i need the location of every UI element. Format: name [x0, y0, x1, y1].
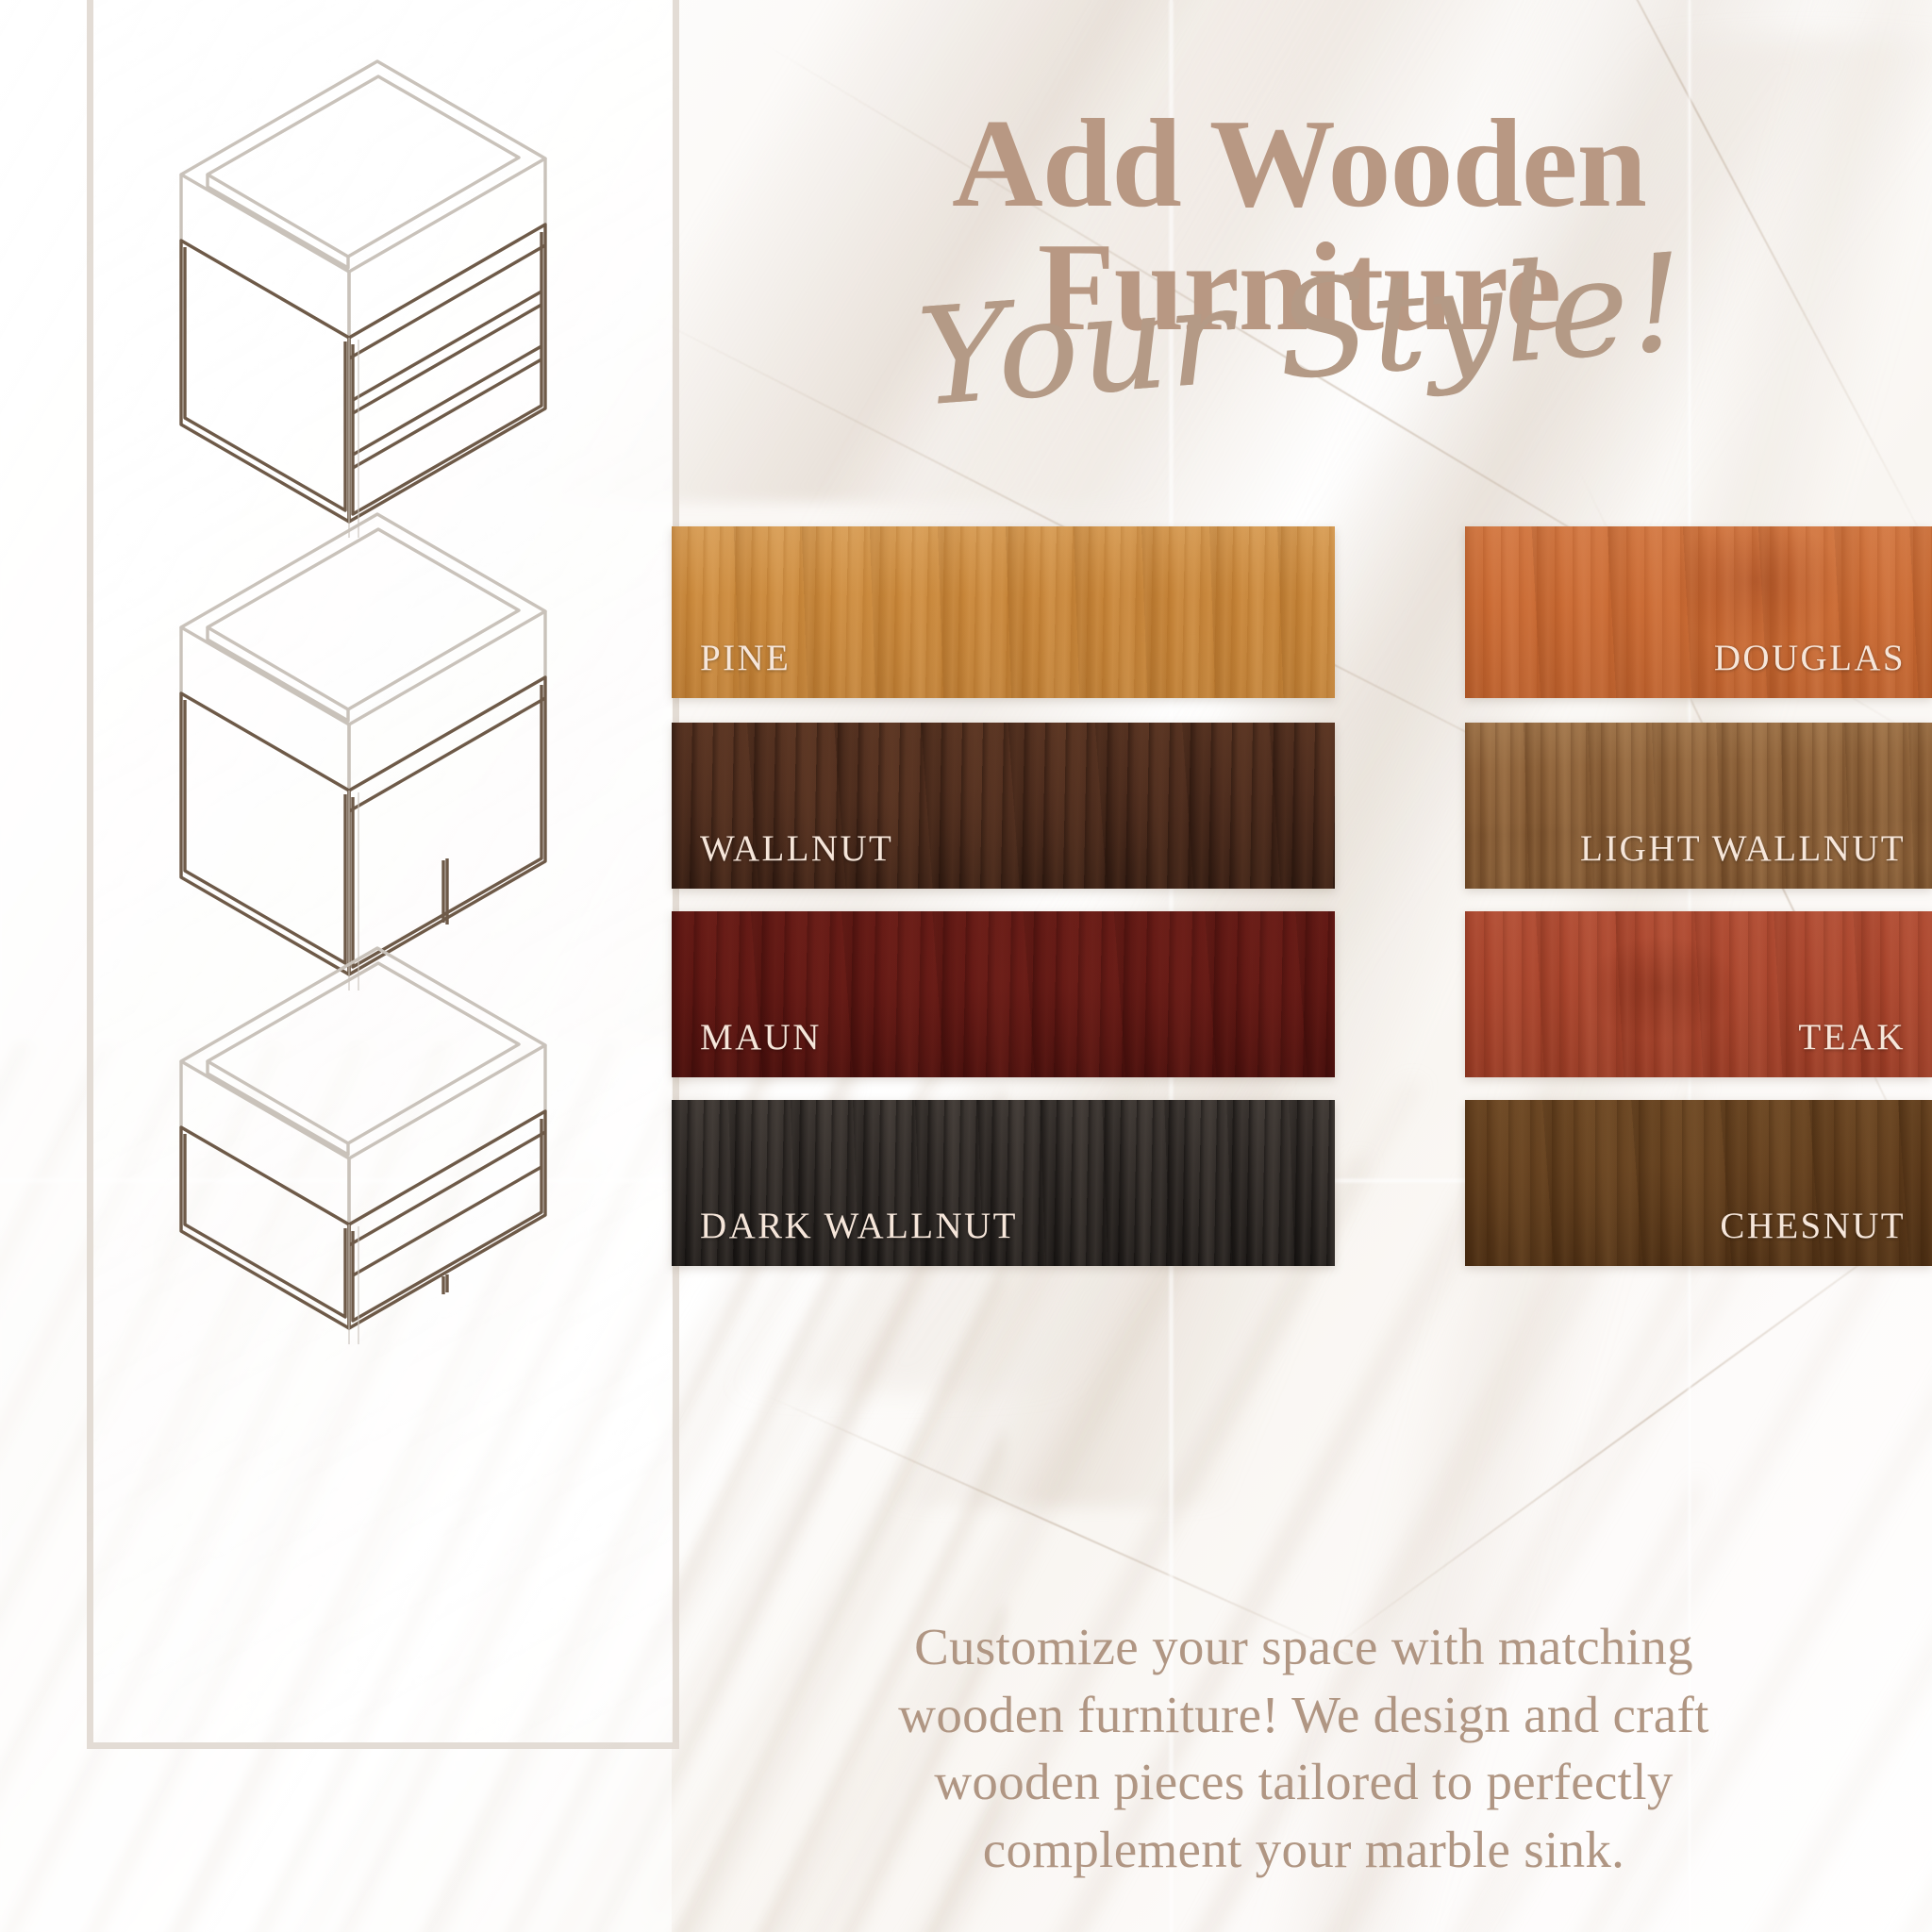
- swatch-label: MAUN: [700, 1016, 822, 1058]
- poster-canvas: Add Wooden Furniture Your Style! PINE DO…: [0, 0, 1932, 1932]
- tagline-line-3: wooden pieces tailored to perfectly: [719, 1748, 1889, 1816]
- wood-swatch-grid: PINE DOUGLAS WALLNUT LIGHT WALLNUT MAUN …: [672, 526, 1932, 1592]
- swatch-label: CHESNUT: [1720, 1205, 1906, 1247]
- swatch-label: DOUGLAS: [1714, 637, 1906, 679]
- swatch-label: PINE: [700, 637, 791, 679]
- sink-basin-outline: [181, 948, 545, 1224]
- tagline-line-2: wooden furniture! We design and craft: [719, 1681, 1889, 1749]
- sink-basin-outline: [181, 61, 545, 338]
- tagline-paragraph: Customize your space with matching woode…: [719, 1613, 1889, 1883]
- sketch-vanity-two-door: [160, 500, 566, 924]
- sketch-vanity-three-drawer: [160, 47, 566, 472]
- swatch-douglas[interactable]: DOUGLAS: [1465, 526, 1932, 698]
- tagline-line-1: Customize your space with matching: [719, 1613, 1889, 1681]
- swatch-chesnut[interactable]: CHESNUT: [1465, 1100, 1932, 1266]
- swatch-dark-wallnut[interactable]: DARK WALLNUT: [672, 1100, 1335, 1266]
- sink-basin-outline: [181, 514, 545, 791]
- sketch-vanity-two-drawer: [160, 934, 566, 1311]
- cabinet-outline: [181, 1111, 545, 1328]
- swatch-label: WALLNUT: [700, 827, 893, 870]
- swatch-wallnut[interactable]: WALLNUT: [672, 723, 1335, 889]
- tagline-line-4: complement your marble sink.: [719, 1816, 1889, 1884]
- swatch-label: TEAK: [1798, 1016, 1906, 1058]
- swatch-light-wallnut[interactable]: LIGHT WALLNUT: [1465, 723, 1932, 889]
- swatch-teak[interactable]: TEAK: [1465, 911, 1932, 1077]
- headline-line-1: Add Wooden: [719, 102, 1879, 225]
- swatch-pine[interactable]: PINE: [672, 526, 1335, 698]
- swatch-label: DARK WALLNUT: [700, 1205, 1018, 1247]
- swatch-maun[interactable]: MAUN: [672, 911, 1335, 1077]
- swatch-label: LIGHT WALLNUT: [1580, 827, 1906, 870]
